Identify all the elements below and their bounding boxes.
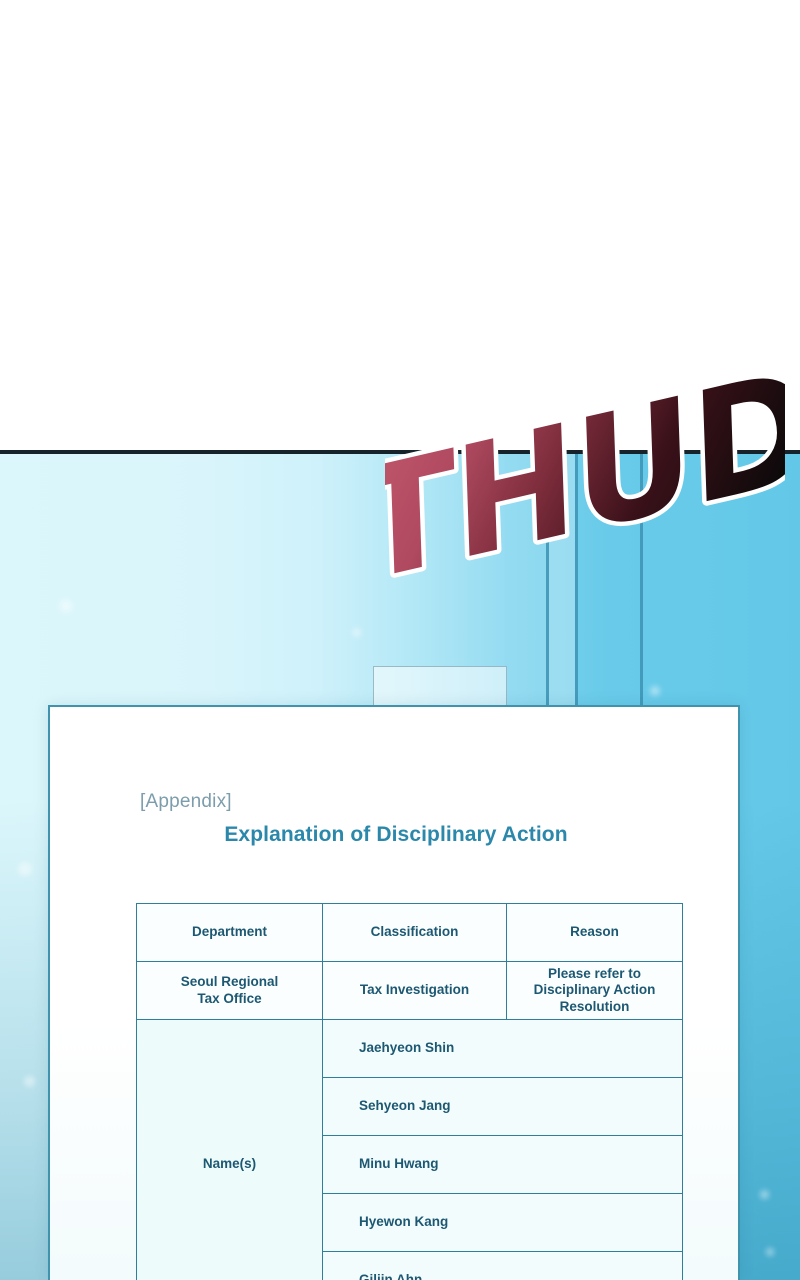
horizon-line	[0, 450, 800, 454]
wall-mullion-2	[575, 454, 578, 714]
table-cell-reason: Please refer to Disciplinary Action Reso…	[507, 962, 683, 1020]
document-title: Explanation of Disciplinary Action	[50, 823, 742, 847]
department-line-1: Seoul Regional	[181, 974, 279, 989]
reason-line-3: Resolution	[560, 999, 630, 1014]
disciplinary-table: Department Classification Reason Seoul R…	[136, 903, 683, 1280]
table-cell-name: Jaehyeon Shin	[323, 1020, 683, 1078]
table-header-reason: Reason	[507, 904, 683, 962]
table-cell-names-label: Name(s)	[137, 1020, 323, 1280]
table-cell-department: Seoul Regional Tax Office	[137, 962, 323, 1020]
wall-mullion-3	[640, 454, 643, 714]
table-cell-name: Sehyeon Jang	[323, 1078, 683, 1136]
table-row-name-1: Name(s) Jaehyeon Shin	[137, 1020, 683, 1078]
upper-white-band	[0, 0, 800, 452]
table-row-headers: Department Classification Reason	[137, 904, 683, 962]
table-cell-classification: Tax Investigation	[323, 962, 507, 1020]
reason-line-1: Please refer to	[548, 966, 641, 981]
wall-mullion-1	[546, 454, 549, 714]
comic-panel-page: THUD THUD [Appendix] Explanation of Disc…	[0, 0, 800, 1280]
table-cell-name: Giljin Ahn	[323, 1252, 683, 1280]
disciplinary-document-sheet: [Appendix] Explanation of Disciplinary A…	[48, 705, 740, 1280]
table-cell-name: Minu Hwang	[323, 1136, 683, 1194]
table-header-classification: Classification	[323, 904, 507, 962]
table-row-values: Seoul Regional Tax Office Tax Investigat…	[137, 962, 683, 1020]
department-line-2: Tax Office	[197, 991, 261, 1006]
reason-line-2: Disciplinary Action	[534, 982, 656, 997]
table-cell-name: Hyewon Kang	[323, 1194, 683, 1252]
table-header-department: Department	[137, 904, 323, 962]
appendix-label: [Appendix]	[140, 791, 232, 813]
